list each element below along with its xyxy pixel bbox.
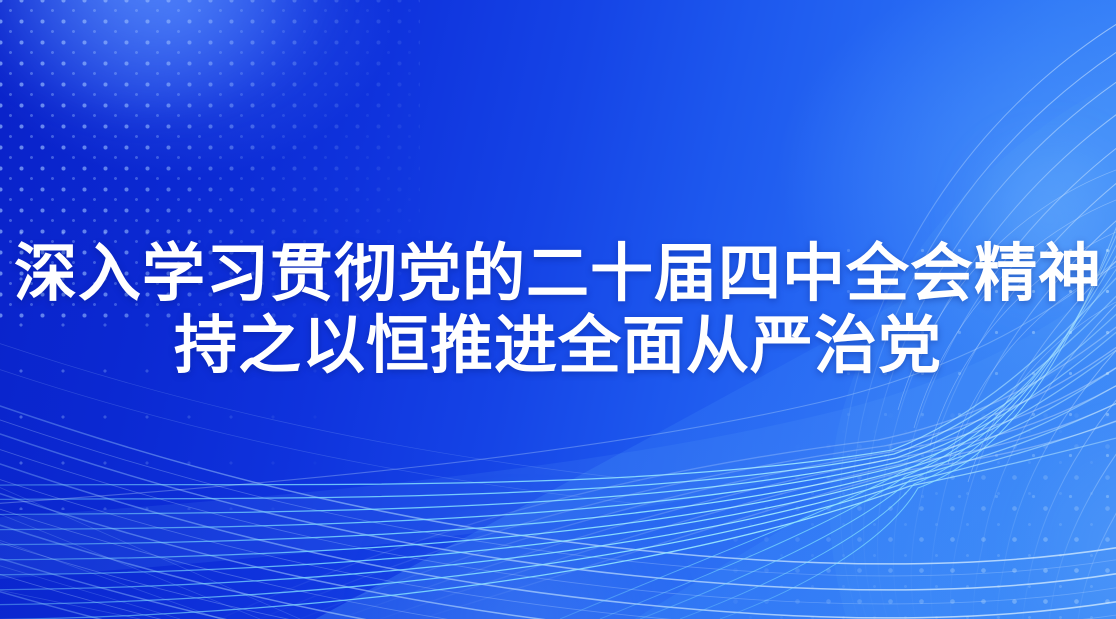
dot-scatter-bottom-right [720,400,1116,619]
banner-title: 深入学习贯彻党的二十届四中全会精神 持之以恒推进全面从严治党 [0,238,1116,382]
banner-canvas: 深入学习贯彻党的二十届四中全会精神 持之以恒推进全面从严治党 [0,0,1116,619]
glow-orb-bottom-center-icon [330,520,710,619]
title-line-2: 持之以恒推进全面从严治党 [0,310,1116,382]
title-line-1: 深入学习贯彻党的二十届四中全会精神 [0,238,1116,310]
glow-orb-bottom-right-icon [990,400,1116,619]
glow-arc-top-left-icon [0,0,360,115]
